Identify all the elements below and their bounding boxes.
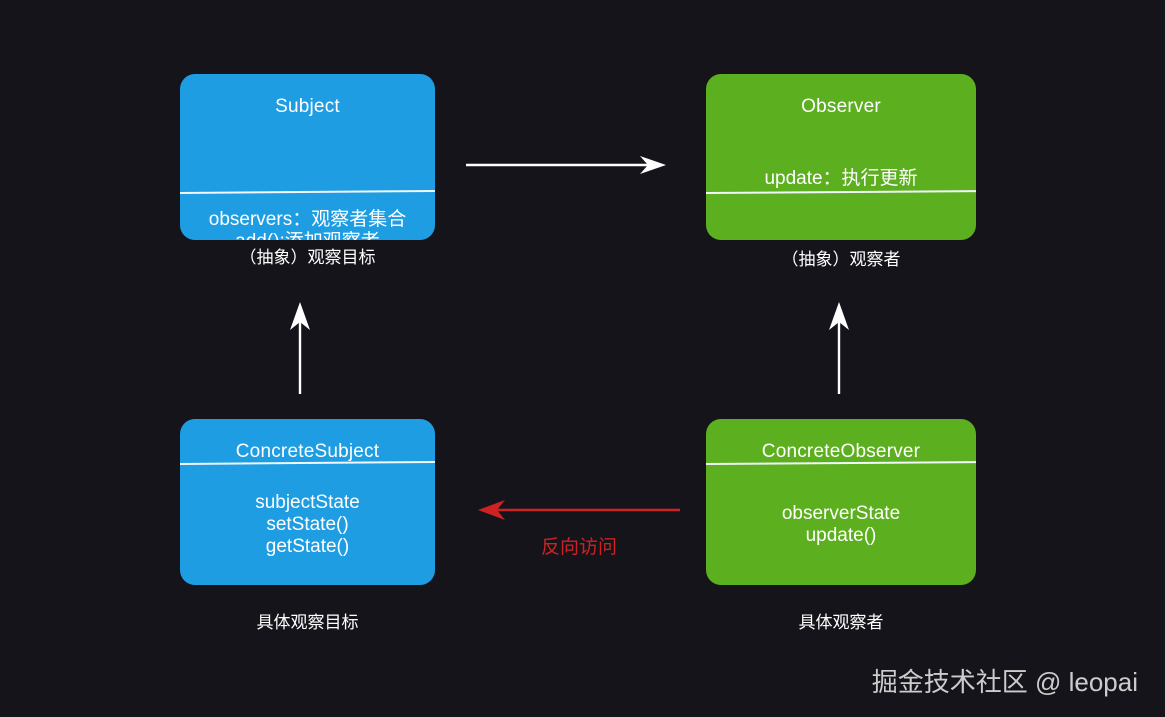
uml-box-subject[interactable]: Subject observers：观察者集合 add():添加观察者 dele…	[180, 74, 435, 240]
connector-subject-to-observer	[466, 156, 666, 174]
diagram-canvas: Subject observers：观察者集合 add():添加观察者 dele…	[0, 0, 1165, 717]
connector-layer	[0, 0, 1165, 717]
uml-box-observer-members: update：执行更新	[706, 168, 976, 190]
uml-box-observer-divider	[706, 190, 976, 194]
connector-concrete-subject-to-subject	[290, 302, 310, 394]
uml-member: update：执行更新	[706, 168, 976, 190]
uml-member: observers：观察者集合	[180, 209, 435, 231]
uml-member: subjectState	[180, 492, 435, 514]
uml-member: getState()	[180, 536, 435, 558]
uml-box-concrete-observer[interactable]: ConcreteObserver observerState update()	[706, 419, 976, 585]
uml-box-subject-title: Subject	[180, 97, 435, 116]
uml-member: update()	[706, 525, 976, 547]
uml-box-concrete-subject-title: ConcreteSubject	[180, 442, 435, 461]
caption-concrete-observer: 具体观察者	[706, 614, 976, 631]
uml-box-concrete-observer-title: ConcreteObserver	[706, 442, 976, 461]
connector-reverse-access	[478, 500, 680, 520]
uml-box-observer-title: Observer	[706, 97, 976, 116]
uml-box-concrete-subject-divider	[180, 461, 435, 465]
uml-member: add():添加观察者	[180, 231, 435, 240]
uml-box-concrete-subject[interactable]: ConcreteSubject subjectState setState() …	[180, 419, 435, 585]
watermark: 掘金技术社区 @ leopai	[872, 669, 1138, 695]
uml-box-concrete-subject-members: subjectState setState() getState()	[180, 492, 435, 558]
caption-observer: （抽象）观察者	[706, 251, 976, 268]
uml-box-observer[interactable]: Observer update：执行更新	[706, 74, 976, 240]
connector-concrete-observer-to-observer	[829, 302, 849, 394]
uml-box-concrete-observer-divider	[706, 461, 976, 465]
uml-box-subject-divider	[180, 190, 435, 194]
uml-member: observerState	[706, 503, 976, 525]
uml-box-subject-members: observers：观察者集合 add():添加观察者 delete()：去除观…	[180, 209, 435, 240]
uml-member: setState()	[180, 514, 435, 536]
connector-reverse-access-label: 反向访问	[541, 538, 617, 557]
caption-concrete-subject: 具体观察目标	[180, 614, 435, 631]
uml-box-concrete-observer-members: observerState update()	[706, 503, 976, 547]
caption-subject: （抽象）观察目标	[180, 249, 435, 266]
